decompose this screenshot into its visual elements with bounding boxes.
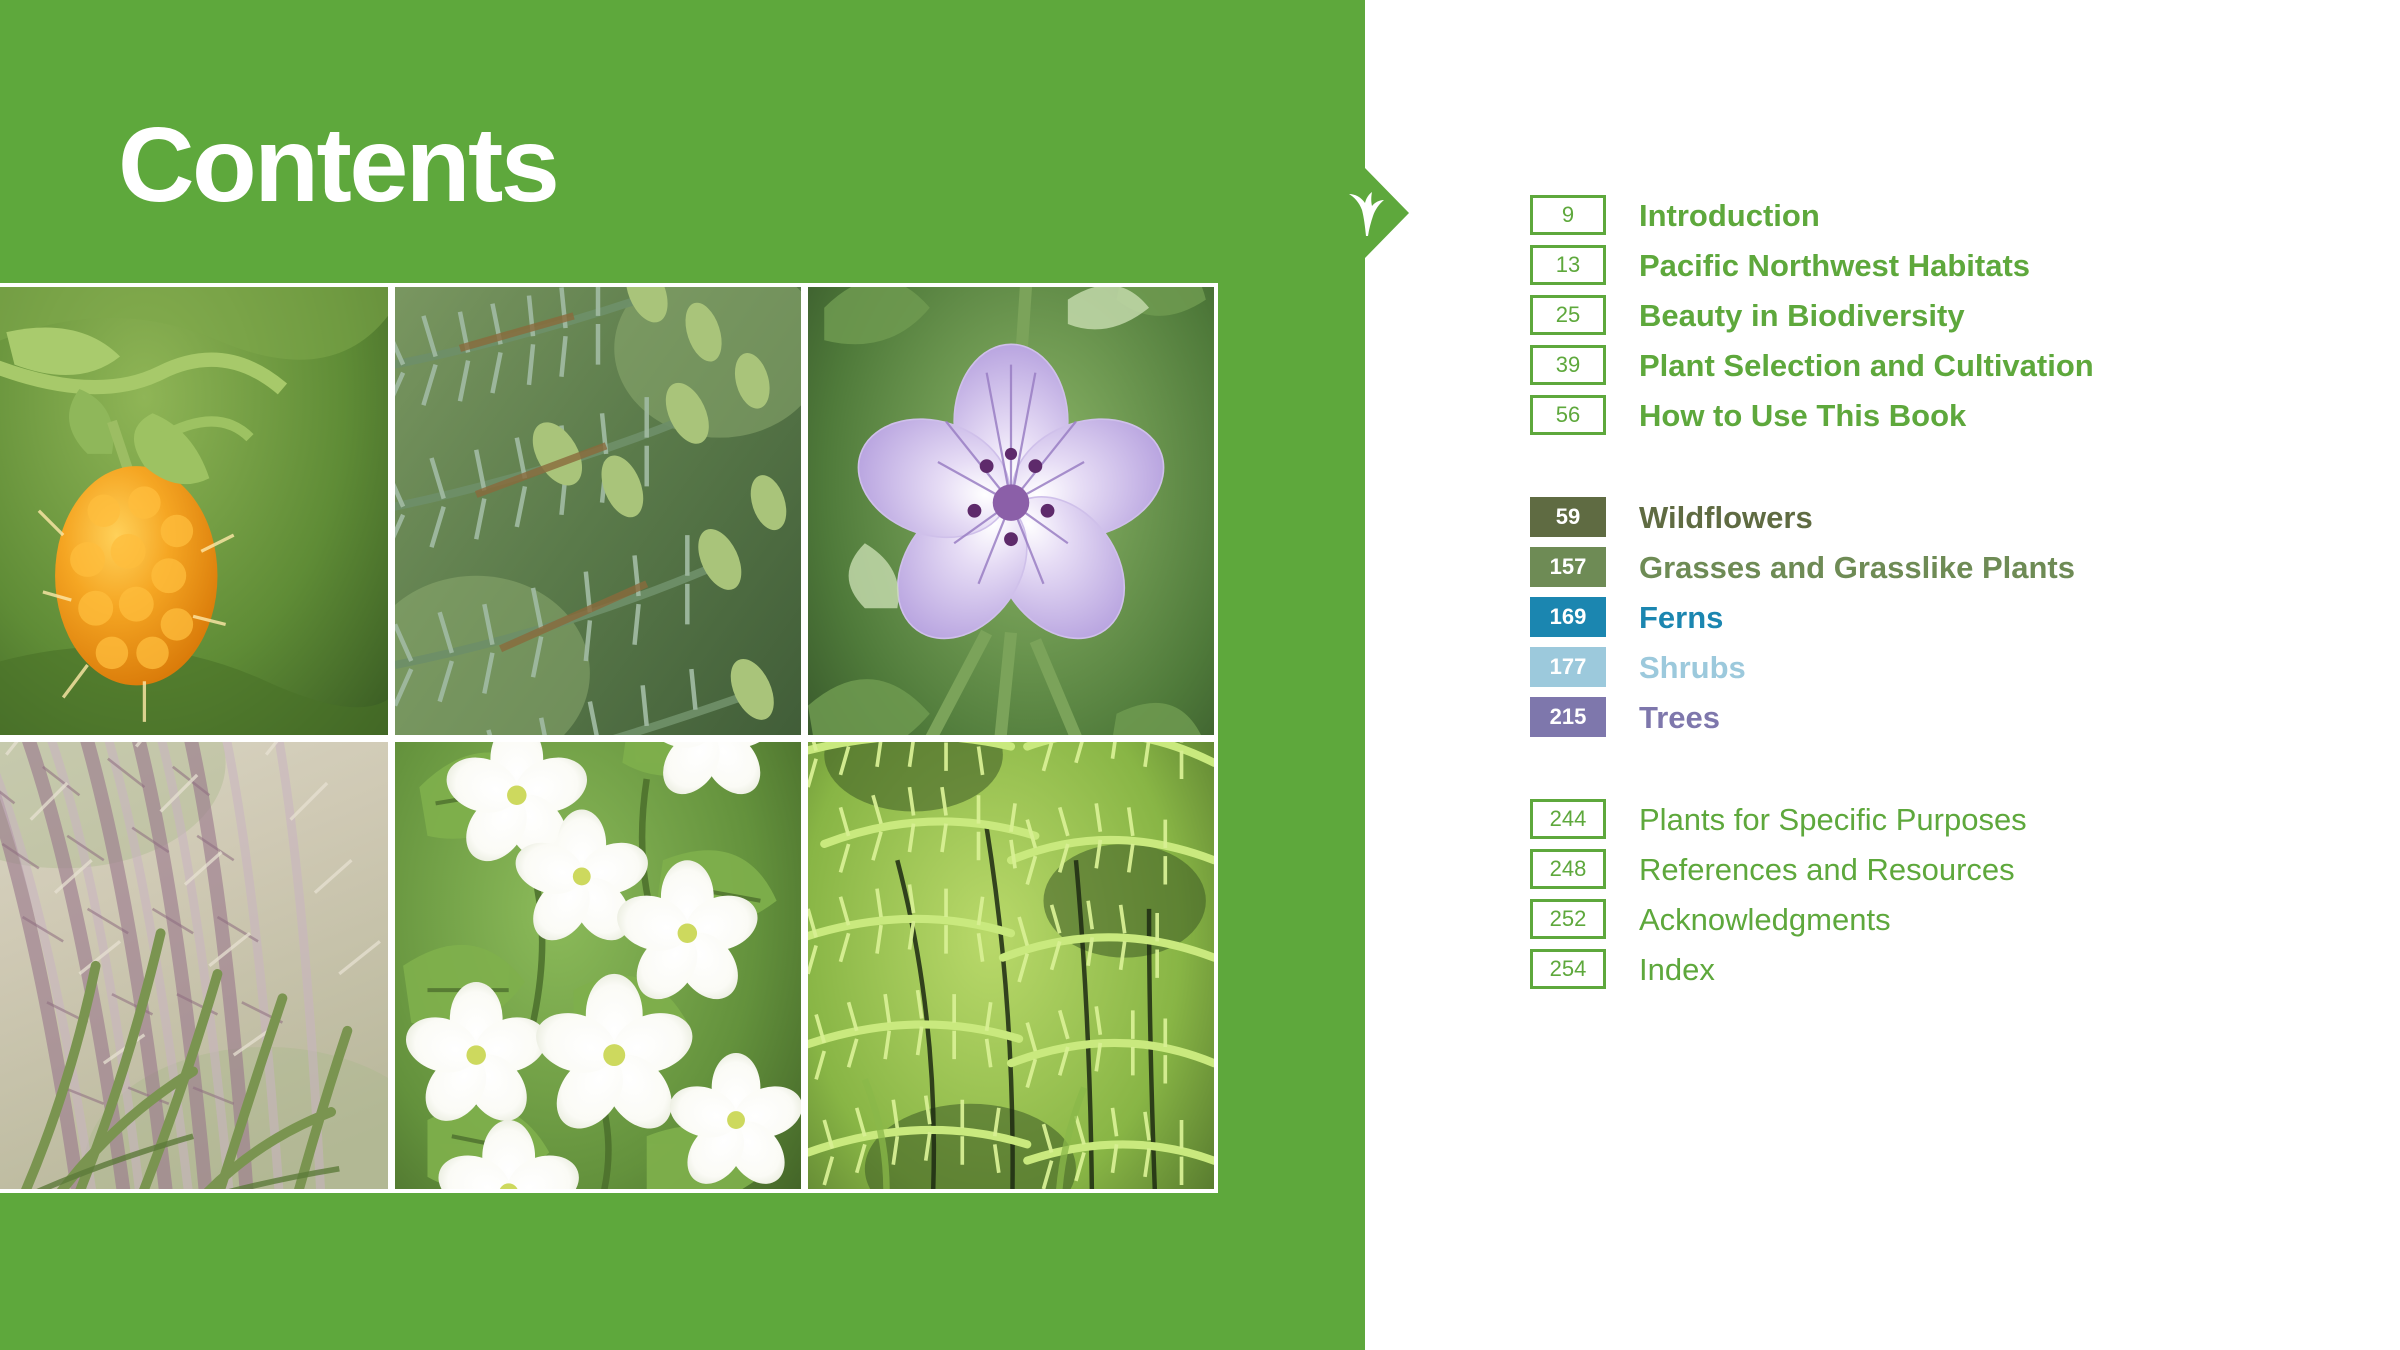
toc-entry[interactable]: 169Ferns: [1530, 592, 2320, 642]
page-number-badge: 248: [1530, 849, 1606, 889]
page-number-badge: 169: [1530, 597, 1606, 637]
toc-entry[interactable]: 177Shrubs: [1530, 642, 2320, 692]
toc-group-3: 244Plants for Specific Purposes248Refere…: [1530, 794, 2320, 994]
grass-photo: [0, 742, 388, 1190]
toc-entry[interactable]: 56How to Use This Book: [1530, 390, 2320, 440]
toc-entry[interactable]: 9Introduction: [1530, 190, 2320, 240]
toc-entry-label: Plant Selection and Cultivation: [1639, 350, 2094, 381]
conifer-photo: [395, 287, 801, 735]
arrow-tab: [1365, 168, 1409, 258]
page-number-badge: 56: [1530, 395, 1606, 435]
toc-entry[interactable]: 13Pacific Northwest Habitats: [1530, 240, 2320, 290]
toc-entry[interactable]: 157Grasses and Grasslike Plants: [1530, 542, 2320, 592]
page-number-badge: 59: [1530, 497, 1606, 537]
toc-entry-label: Ferns: [1639, 602, 1723, 633]
toc-entry-label: Trees: [1639, 702, 1720, 733]
page-number-badge: 252: [1530, 899, 1606, 939]
toc-entry[interactable]: 59Wildflowers: [1530, 492, 2320, 542]
toc-entry-label: Grasses and Grasslike Plants: [1639, 552, 2075, 583]
toc-entry[interactable]: 244Plants for Specific Purposes: [1530, 794, 2320, 844]
toc-entry[interactable]: 25Beauty in Biodiversity: [1530, 290, 2320, 340]
page-number-badge: 254: [1530, 949, 1606, 989]
toc-entry-label: Pacific Northwest Habitats: [1639, 250, 2030, 281]
toc-entry-label: Beauty in Biodiversity: [1639, 300, 1965, 331]
toc-entry-label: Plants for Specific Purposes: [1639, 804, 2027, 835]
toc-entry-label: Introduction: [1639, 200, 1820, 231]
toc-entry-label: Wildflowers: [1639, 502, 1813, 533]
page-number-badge: 177: [1530, 647, 1606, 687]
page-number-badge: 157: [1530, 547, 1606, 587]
page-number-badge: 215: [1530, 697, 1606, 737]
photo-mosaic: [0, 283, 1218, 1193]
page-number-badge: 9: [1530, 195, 1606, 235]
toc-entry-label: Shrubs: [1639, 652, 1746, 683]
ferns-photo: [808, 742, 1214, 1190]
page-number-badge: 25: [1530, 295, 1606, 335]
toc-entry-label: Acknowledgments: [1639, 904, 1891, 935]
toc-entry-label: How to Use This Book: [1639, 400, 1966, 431]
geranium-photo: [808, 287, 1214, 735]
toc-entry-label: Index: [1639, 954, 1715, 985]
toc-entry[interactable]: 215Trees: [1530, 692, 2320, 742]
toc-entry[interactable]: 39Plant Selection and Cultivation: [1530, 340, 2320, 390]
toc-entry[interactable]: 254Index: [1530, 944, 2320, 994]
salmonberry-photo: [0, 287, 388, 735]
page-number-badge: 244: [1530, 799, 1606, 839]
page-number-badge: 13: [1530, 245, 1606, 285]
toc-group-2: 59Wildflowers157Grasses and Grasslike Pl…: [1530, 492, 2320, 742]
white-flowers-photo: [395, 742, 801, 1190]
toc-group-1: 9Introduction13Pacific Northwest Habitat…: [1530, 190, 2320, 440]
toc-entry[interactable]: 248References and Resources: [1530, 844, 2320, 894]
table-of-contents: 9Introduction13Pacific Northwest Habitat…: [1530, 190, 2320, 994]
toc-entry[interactable]: 252Acknowledgments: [1530, 894, 2320, 944]
toc-entry-label: References and Resources: [1639, 854, 2015, 885]
leaf-sprout-icon: [1347, 190, 1385, 236]
page-title: Contents: [118, 112, 557, 218]
page-number-badge: 39: [1530, 345, 1606, 385]
